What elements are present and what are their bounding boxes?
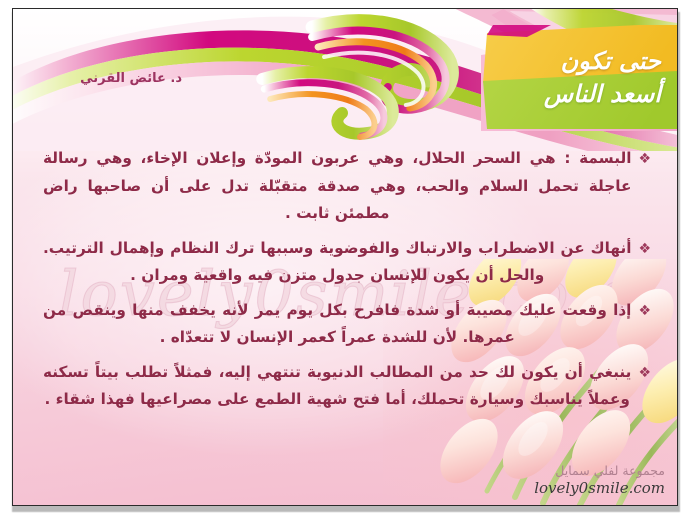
card-title-line-2: أسعد الناس <box>544 80 661 108</box>
list-item-text: أنهاك عن الاضطراب والارتباك والفوضوية وس… <box>43 235 631 290</box>
list-item: ❖ أنهاك عن الاضطراب والارتباك والفوضوية … <box>43 235 651 290</box>
card-frame: حتى تكون أسعد الناس د. عائض القرني lovel… <box>12 8 678 506</box>
list-item-text: البسمة : هي السحر الحلال، وهي عربون المو… <box>43 145 631 228</box>
card-title-line-1: حتى تكون <box>561 47 661 75</box>
greeting-card-root: حتى تكون أسعد الناس د. عائض القرني lovel… <box>0 0 692 525</box>
floret-bullet-icon: ❖ <box>638 360 651 387</box>
list-item: ❖ ينبغي أن يكون لك حد من المطالب الدنيوي… <box>43 359 651 414</box>
list-item: ❖ إذا وقعت عليك مصيبة أو شدة فافرح بكل ي… <box>43 297 651 352</box>
list-item-text: ينبغي أن يكون لك حد من المطالب الدنيوية … <box>43 359 631 414</box>
floret-bullet-icon: ❖ <box>638 298 651 325</box>
author-name: د. عائض القرني <box>80 71 182 86</box>
footer-group-name: مجموعة لفلي سمايل <box>534 463 665 478</box>
floret-bullet-icon: ❖ <box>638 146 651 173</box>
list-item: ❖ البسمة : هي السحر الحلال، وهي عربون ال… <box>43 145 651 228</box>
list-item-text: إذا وقعت عليك مصيبة أو شدة فافرح بكل يوم… <box>43 297 631 352</box>
bullet-list: ❖ البسمة : هي السحر الحلال، وهي عربون ال… <box>13 145 677 421</box>
floret-bullet-icon: ❖ <box>638 236 651 263</box>
footer: مجموعة لفلي سمايل lovely0smile.com <box>534 463 665 497</box>
title-block: حتى تكون أسعد الناس <box>481 25 677 131</box>
footer-website-url[interactable]: lovely0smile.com <box>534 479 665 497</box>
